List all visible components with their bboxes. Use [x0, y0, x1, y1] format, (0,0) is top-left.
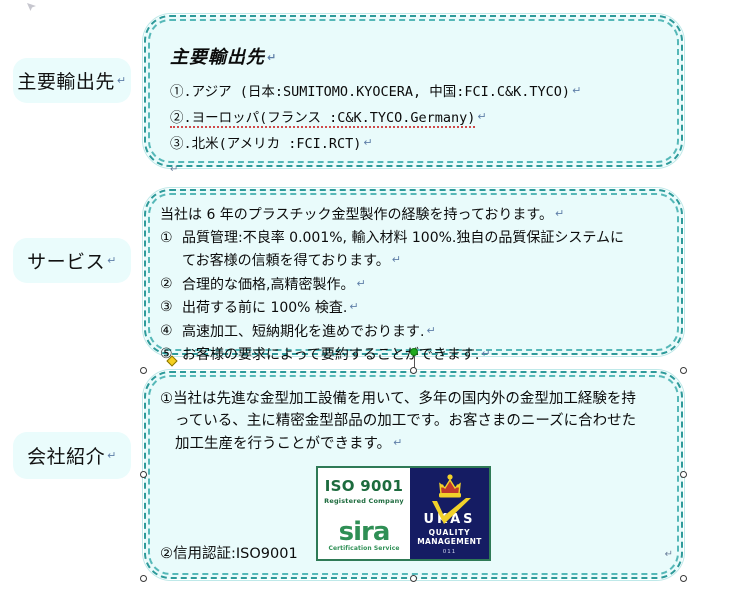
section-label-service[interactable]: サービス↵ — [13, 238, 131, 283]
resize-handle-bottom-center[interactable] — [410, 575, 417, 582]
pilcrow-mark: ↵ — [107, 449, 117, 462]
resize-handle-top-center[interactable] — [410, 367, 417, 374]
cursor-artifact-icon — [26, 2, 38, 14]
rotation-handle[interactable] — [410, 348, 418, 356]
service-item-text: 出荷する前に 100% 検査.↵ — [182, 297, 359, 319]
trailing-pilcrow: ↵ — [665, 549, 673, 560]
section-label-export-destinations[interactable]: 主要輸出先↵ — [13, 58, 131, 103]
sira-brand-text: sira — [328, 520, 399, 544]
service-intro: 当社は 6 年のプラスチック金型製作の経験を持っております。↵ — [160, 204, 675, 226]
service-item-text: お客様の要求によって要約することができます.↵ — [182, 344, 491, 366]
pilcrow-mark: ↵ — [392, 253, 401, 266]
certification-line: ②信用認証:ISO9001 — [160, 543, 298, 565]
certification-text: ②信用認証:ISO9001 — [160, 546, 298, 562]
service-item: ① 品質管理:不良率 0.001%, 輸入材料 100%.独自の品質保証システム… — [160, 228, 675, 249]
resize-handle-bottom-right[interactable] — [680, 575, 687, 582]
company-paragraph-line: っている、主に精密金型部品の加工です。お客さまのニーズに合わせた — [160, 410, 675, 432]
chip-label-text: サービス↵ — [13, 238, 131, 283]
content-box-service[interactable]: 当社は 6 年のプラスチック金型製作の経験を持っております。↵ ① 品質管理:不… — [144, 189, 683, 355]
service-item-number: ② — [160, 274, 177, 295]
service-item: ④ 高速加工、短納期化を進めでおります.↵ — [160, 321, 675, 343]
pilcrow-mark: ↵ — [481, 347, 490, 360]
content-box-export-destinations[interactable]: 主要輸出先↵ ①.アジア (日本:SUMITOMO.KYOCERA, 中国:FC… — [144, 15, 683, 167]
pilcrow-mark: ↵ — [426, 324, 435, 337]
service-item-number: ③ — [160, 297, 177, 318]
iso-subtitle-text: Registered Company — [324, 497, 404, 505]
document-canvas: 主要輸出先↵ 主要輸出先↵ ①.アジア (日本:SUMITOMO.KYOCERA… — [0, 0, 734, 595]
company-paragraph-line: 加工生産を行うことができます。↵ — [160, 432, 675, 455]
service-item-text: 合理的な価格,高精密製作。↵ — [182, 274, 366, 296]
section-label-company-profile[interactable]: 会社紹介↵ — [13, 432, 131, 479]
ukas-code-text: 011 — [443, 549, 457, 555]
resize-handle-middle-left[interactable] — [140, 471, 147, 478]
trailing-pilcrow: ↵ — [170, 159, 669, 180]
content-box-company-profile[interactable]: ①当社は先進な金型加工設備を用いて、多年の国内外の金型加工経験を持 っている、主… — [144, 371, 683, 579]
pilcrow-mark: ↵ — [107, 254, 117, 267]
export-line: ③.北米(アメリカ :FCI.RCT)↵ — [170, 132, 669, 155]
service-item-text: てお客様の信頼を得ております。↵ — [182, 250, 401, 272]
export-heading: 主要輸出先↵ — [170, 43, 669, 69]
export-line: ②.ヨーロッパ(フランス :C&K.TYCO.Germany)↵ — [170, 106, 669, 129]
service-item: ⑤ お客様の要求によって要約することができます.↵ — [160, 344, 675, 366]
company-profile-body: ①当社は先進な金型加工設備を用いて、多年の国内外の金型加工経験を持 っている、主… — [160, 388, 675, 455]
pilcrow-mark: ↵ — [363, 136, 372, 149]
service-item-number: ④ — [160, 321, 177, 342]
ukas-panel: UKAS QUALITY MANAGEMENT 011 — [410, 468, 489, 559]
chip-label-text: 主要輸出先↵ — [13, 58, 131, 103]
ukas-crown-and-tick-icon — [419, 472, 481, 530]
pilcrow-mark: ↵ — [349, 300, 358, 313]
service-item: ② 合理的な価格,高精密製作。↵ — [160, 274, 675, 296]
service-item: ③ 出荷する前に 100% 検査.↵ — [160, 297, 675, 319]
service-item-text: 品質管理:不良率 0.001%, 輸入材料 100%.独自の品質保証システムに — [182, 228, 624, 249]
pilcrow-mark: ↵ — [572, 84, 581, 97]
pilcrow-mark: ↵ — [356, 277, 365, 290]
pilcrow-mark: ↵ — [393, 436, 402, 449]
iso-title-text: ISO 9001 — [324, 477, 404, 495]
resize-handle-bottom-left[interactable] — [140, 575, 147, 582]
export-line: ①.アジア (日本:SUMITOMO.KYOCERA, 中国:FCI.C&K.T… — [170, 80, 669, 103]
sira-subtitle-text: Certification Service — [328, 545, 399, 552]
iso9001-ukas-certificate-image: ISO 9001 Registered Company sira Certifi… — [316, 466, 491, 561]
pilcrow-mark: ↵ — [555, 207, 564, 220]
pilcrow-mark: ↵ — [267, 51, 277, 64]
service-body: 当社は 6 年のプラスチック金型製作の経験を持っております。↵ ① 品質管理:不… — [160, 204, 675, 368]
pilcrow-mark: ↵ — [477, 110, 486, 123]
pilcrow-mark: ↵ — [117, 74, 127, 87]
resize-handle-top-left[interactable] — [140, 367, 147, 374]
company-paragraph-line: ①当社は先進な金型加工設備を用いて、多年の国内外の金型加工経験を持 — [160, 388, 675, 410]
service-item-text: 高速加工、短納期化を進めでおります.↵ — [182, 321, 436, 343]
resize-handle-middle-right[interactable] — [680, 471, 687, 478]
company-paragraph: ①当社は先進な金型加工設備を用いて、多年の国内外の金型加工経験を持 っている、主… — [160, 388, 675, 455]
ukas-management-text: MANAGEMENT — [417, 537, 482, 546]
resize-handle-top-right[interactable] — [680, 367, 687, 374]
chip-label-text: 会社紹介↵ — [13, 432, 131, 479]
sira-iso-panel: ISO 9001 Registered Company sira Certifi… — [318, 468, 410, 559]
service-item-number: ① — [160, 228, 177, 249]
service-item-continuation: てお客様の信頼を得ております。↵ — [160, 250, 675, 272]
export-destinations-body: 主要輸出先↵ ①.アジア (日本:SUMITOMO.KYOCERA, 中国:FC… — [170, 43, 669, 183]
